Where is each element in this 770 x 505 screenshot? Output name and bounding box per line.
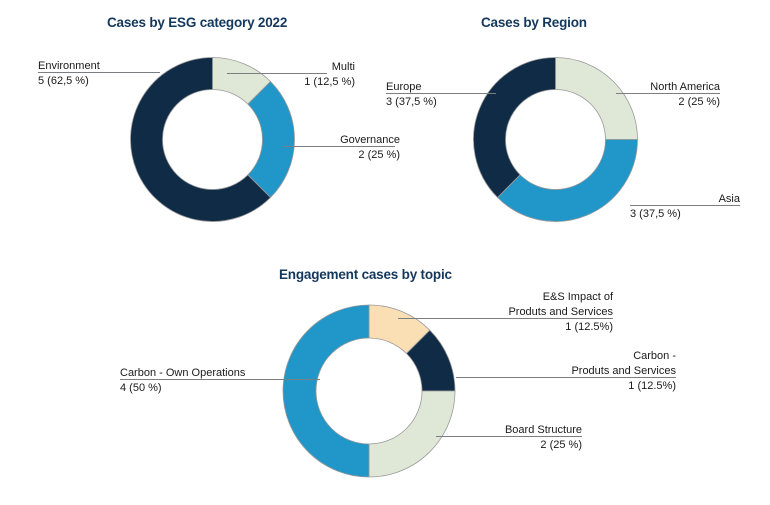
slice-label-carbon-own-operations-name: Carbon - Own Operations <box>120 366 320 381</box>
chart-panel-region: Cases by Region Europe 3 (37,5 %) North … <box>400 0 770 255</box>
slice-label-governance-name: Governance <box>283 133 400 148</box>
slice-label-asia-name: Asia <box>630 192 740 207</box>
slice-label-europe-value: 3 (37,5 %) <box>386 95 491 110</box>
slice-label-governance-value: 2 (25 %) <box>283 148 400 163</box>
chart-title-engagement-topic: Engagement cases by topic <box>279 267 452 282</box>
chart-title-esg-category: Cases by ESG category 2022 <box>107 15 287 30</box>
slice-label-europe-name: Europe <box>386 80 491 95</box>
donut-hole <box>163 90 263 190</box>
slice-label-board-structure: Board Structure 2 (25 %) <box>462 423 582 453</box>
slice-label-environment: Environment 5 (62,5 %) <box>38 59 158 89</box>
slice-label-carbon-products-line1: Carbon - <box>516 349 676 364</box>
slice-label-environment-name: Environment <box>38 59 158 74</box>
slice-label-carbon-own-operations: Carbon - Own Operations 4 (50 %) <box>120 366 320 396</box>
donut-hole <box>316 338 422 444</box>
chart-panel-esg-category: Cases by ESG category 2022 Environment 5… <box>0 0 400 255</box>
slice-label-governance: Governance 2 (25 %) <box>283 133 400 163</box>
slice-label-carbon-products-value: 1 (12.5%) <box>516 379 676 394</box>
slice-label-asia-value: 3 (37,5 %) <box>630 207 740 222</box>
slice-label-carbon-own-operations-value: 4 (50 %) <box>120 381 320 396</box>
slice-label-north-america-value: 2 (25 %) <box>616 95 720 110</box>
chart-title-region: Cases by Region <box>481 15 587 30</box>
slice-label-carbon-products: Carbon - Produts and Services 1 (12.5%) <box>516 349 676 394</box>
slice-label-north-america: North America 2 (25 %) <box>616 80 720 110</box>
slice-label-es-impact: E&S Impact of Produts and Services 1 (12… <box>453 290 613 335</box>
slice-label-board-structure-name: Board Structure <box>462 423 582 438</box>
slice-label-asia: Asia 3 (37,5 %) <box>630 192 740 222</box>
slice-label-board-structure-value: 2 (25 %) <box>462 438 582 453</box>
slice-label-multi-value: 1 (12,5 %) <box>227 75 355 90</box>
chart-panel-engagement-topic: Engagement cases by topic Carbon - Own O… <box>0 258 770 505</box>
slice-label-es-impact-line2: Produts and Services <box>453 305 613 320</box>
slice-label-europe: Europe 3 (37,5 %) <box>386 80 491 110</box>
slice-label-multi-name: Multi <box>227 60 355 75</box>
donut-hole <box>506 90 606 190</box>
slice-label-north-america-name: North America <box>616 80 720 95</box>
slice-label-es-impact-line1: E&S Impact of <box>453 290 613 305</box>
donut-chart-region <box>468 52 643 227</box>
slice-label-carbon-products-line2: Produts and Services <box>516 364 676 379</box>
slice-label-es-impact-value: 1 (12.5%) <box>453 320 613 335</box>
slice-label-multi: Multi 1 (12,5 %) <box>227 60 355 90</box>
slice-label-environment-value: 5 (62,5 %) <box>38 74 158 89</box>
